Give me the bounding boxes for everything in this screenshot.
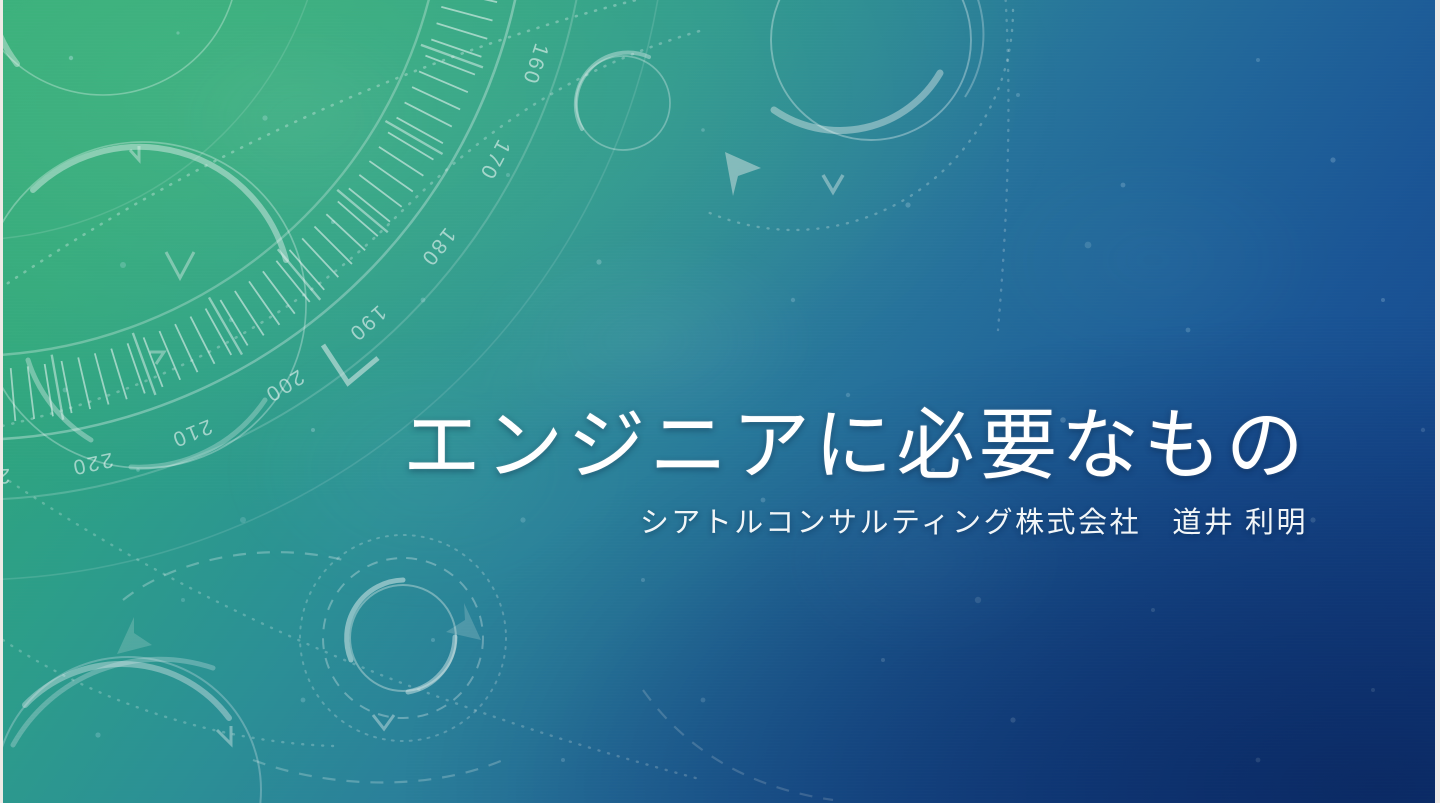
concentric-ring-top-left xyxy=(3,0,238,95)
nebula-texture xyxy=(3,0,1435,803)
large-gauge-dial-arc xyxy=(3,0,668,580)
concentric-ring-top-center xyxy=(771,0,983,140)
dial-label: 230 xyxy=(3,464,10,488)
dashed-arc xyxy=(123,552,833,800)
chevron-marker xyxy=(323,345,378,383)
concentric-ring-small-upper xyxy=(576,53,670,150)
background-ornament-graphics: 140 150 160 170 180 190 200 210 220 230 … xyxy=(3,0,1435,803)
title-text-block: エンジニアに必要なもの シアトルコンサルティング株式会社 道井 利明 xyxy=(3,404,1308,541)
dial-label: 180 xyxy=(416,223,460,271)
dial-label: 190 xyxy=(344,301,391,347)
dial-label: 200 xyxy=(260,365,308,407)
dotted-arc xyxy=(3,0,1153,780)
gauge-tick-labels: 140 150 160 170 180 190 200 210 220 230 … xyxy=(3,0,576,488)
slide-canvas: 140 150 160 170 180 190 200 210 220 230 … xyxy=(3,0,1435,803)
concentric-ring-bottom-left xyxy=(3,657,261,803)
page-title: エンジニアに必要なもの xyxy=(3,404,1308,488)
concentric-ring-upper-left xyxy=(3,142,306,468)
star-particles xyxy=(63,31,1426,762)
dial-label: 210 xyxy=(167,414,215,451)
dial-label: 220 xyxy=(69,448,115,479)
gauge-tick-marks xyxy=(3,0,516,428)
dial-label: 170 xyxy=(475,136,515,184)
title-slide: 140 150 160 170 180 190 200 210 220 230 … xyxy=(0,0,1440,803)
dial-label: 160 xyxy=(518,41,553,89)
page-subtitle: シアトルコンサルティング株式会社 道井 利明 xyxy=(3,506,1308,541)
concentric-ring-bottom-center xyxy=(300,535,506,741)
chevron-marker xyxy=(130,146,843,744)
scanline-texture xyxy=(3,0,1435,803)
arrow-marker xyxy=(117,152,761,654)
vignette-overlay xyxy=(3,0,1435,803)
